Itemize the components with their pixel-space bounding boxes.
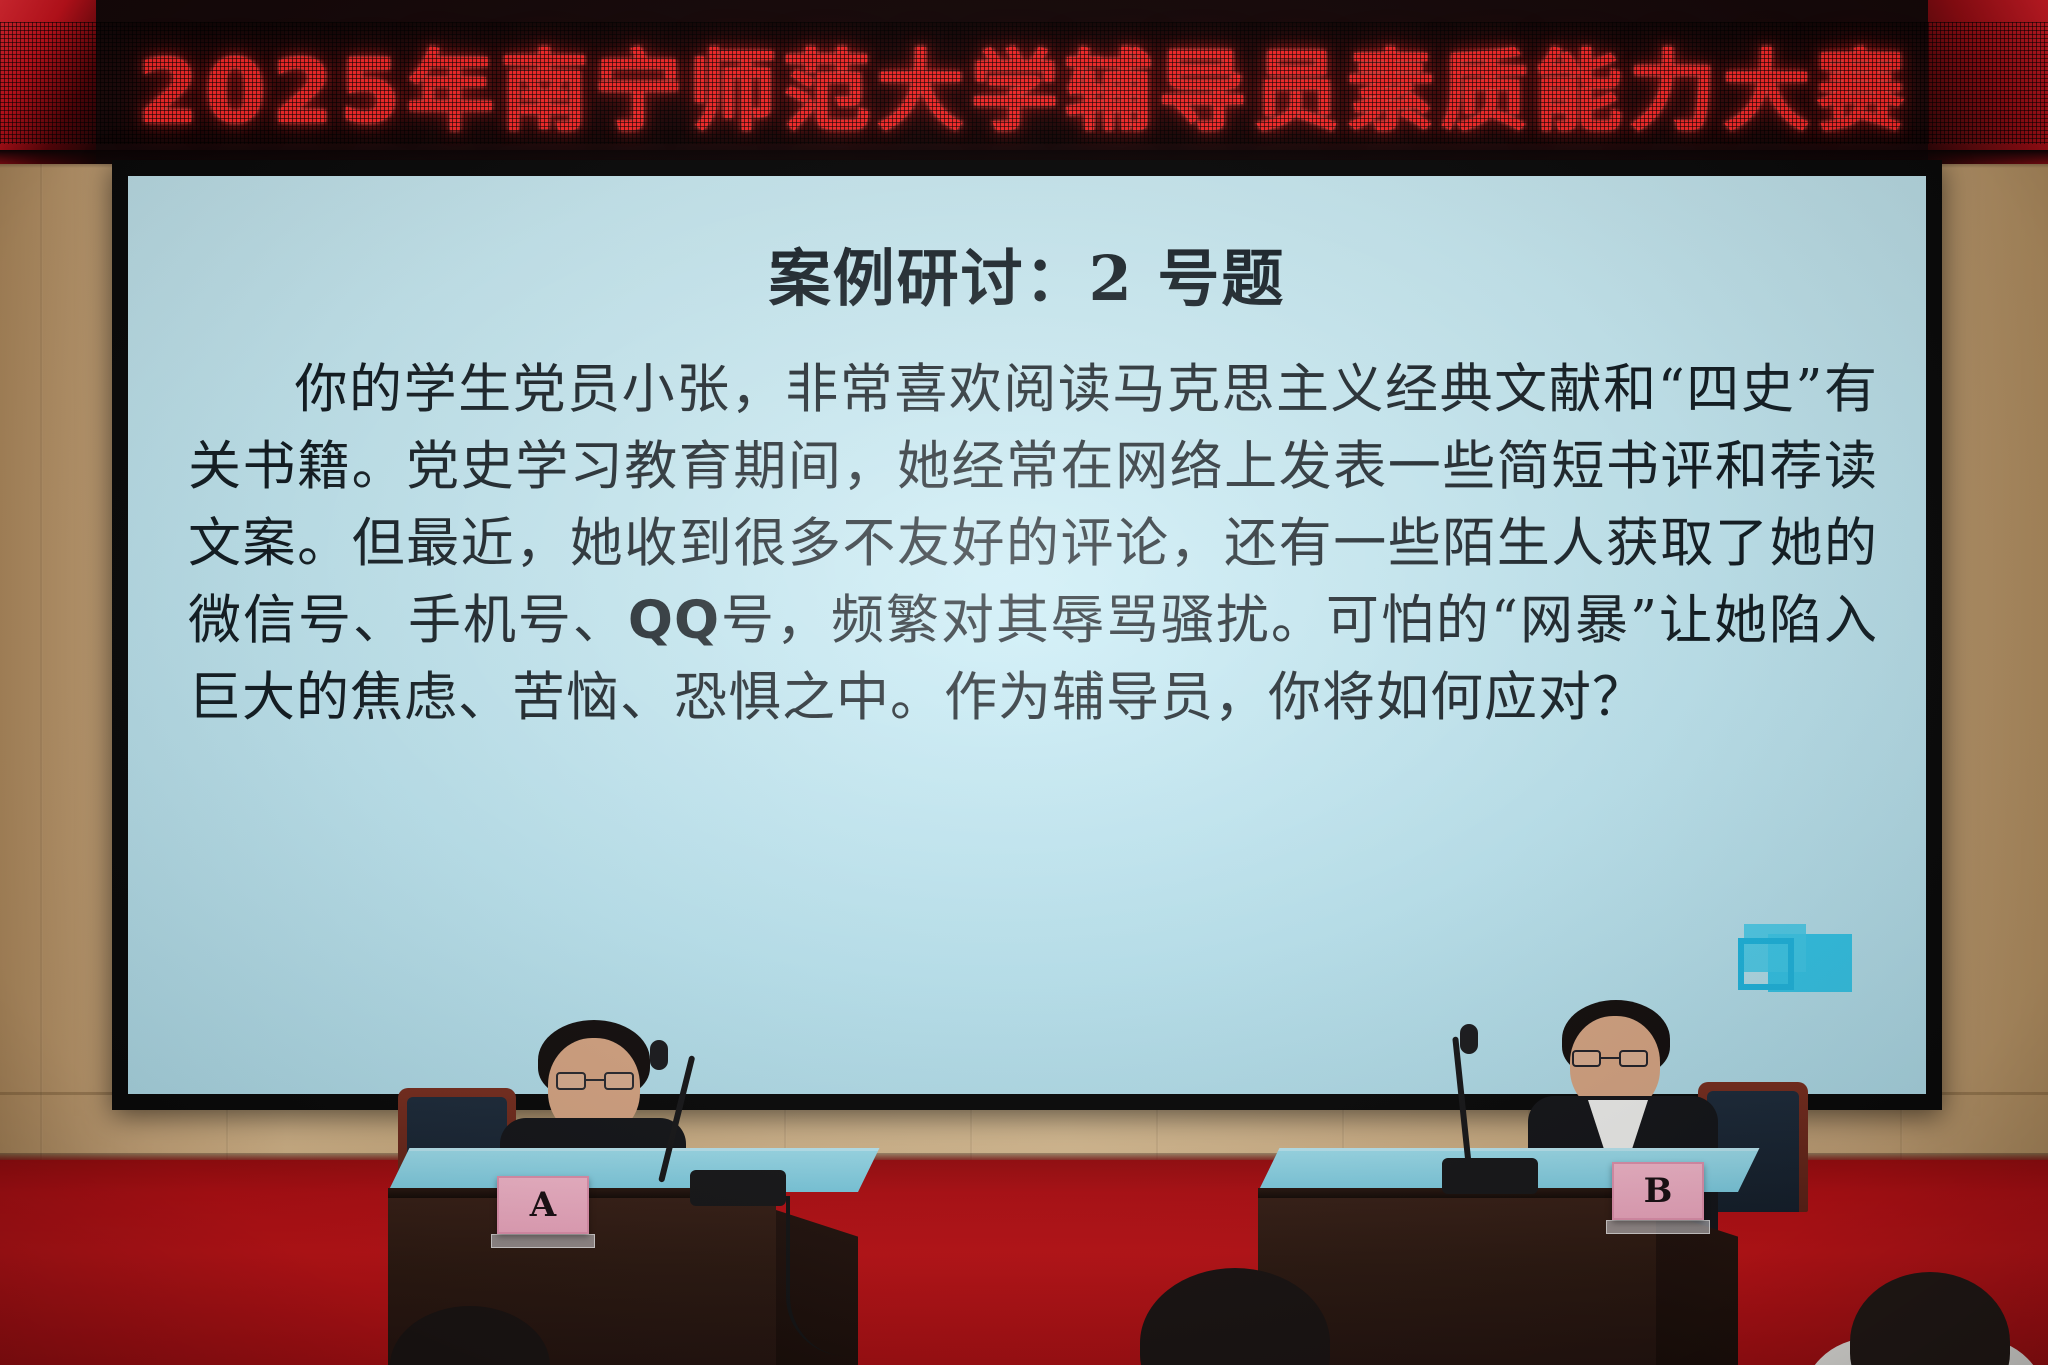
- deco-square-outline: [1738, 938, 1794, 990]
- glasses-lens-right: [604, 1072, 634, 1090]
- glasses-bridge: [586, 1079, 604, 1081]
- nameplate-a: A: [497, 1176, 589, 1234]
- contestant-a-glasses-icon: [556, 1072, 634, 1090]
- projection-screen: 案例研讨：2 号题 你的学生党员小张，非常喜欢阅读马克思主义经典文献和“四史”有…: [128, 176, 1926, 1094]
- slide-title: 案例研讨：2 号题: [128, 228, 1926, 318]
- glasses-bridge: [1601, 1057, 1619, 1059]
- photo-scene: 2025年南宁师范大学辅导员素质能力大赛 案例研讨：2 号题 你的学生党员小张，…: [0, 0, 2048, 1365]
- microphone-b-base: [1442, 1158, 1538, 1194]
- glasses-lens-left: [1572, 1050, 1601, 1067]
- microphone-a-base: [690, 1170, 786, 1206]
- microphone-a-head: [650, 1040, 668, 1070]
- slide-body-part-2-bold: QQ: [628, 590, 720, 651]
- nameplate-a-stand: [491, 1234, 595, 1248]
- nameplate-b-stand: [1606, 1220, 1710, 1234]
- glasses-lens-right: [1619, 1050, 1648, 1067]
- desk-a-top: [388, 1148, 879, 1192]
- nameplate-b: B: [1612, 1162, 1704, 1220]
- slide-body-text: 你的学生党员小张，非常喜欢阅读马克思主义经典文献和“四史”有关书籍。党史学习教育…: [188, 351, 1878, 736]
- contestant-b-glasses-icon: [1572, 1050, 1648, 1067]
- slide-decoration-squares: [1734, 924, 1852, 1016]
- glasses-lens-left: [556, 1072, 586, 1090]
- microphone-b-head: [1460, 1024, 1478, 1054]
- led-banner: 2025年南宁师范大学辅导员素质能力大赛: [0, 0, 2048, 164]
- led-banner-text: 2025年南宁师范大学辅导员素质能力大赛: [0, 28, 2048, 140]
